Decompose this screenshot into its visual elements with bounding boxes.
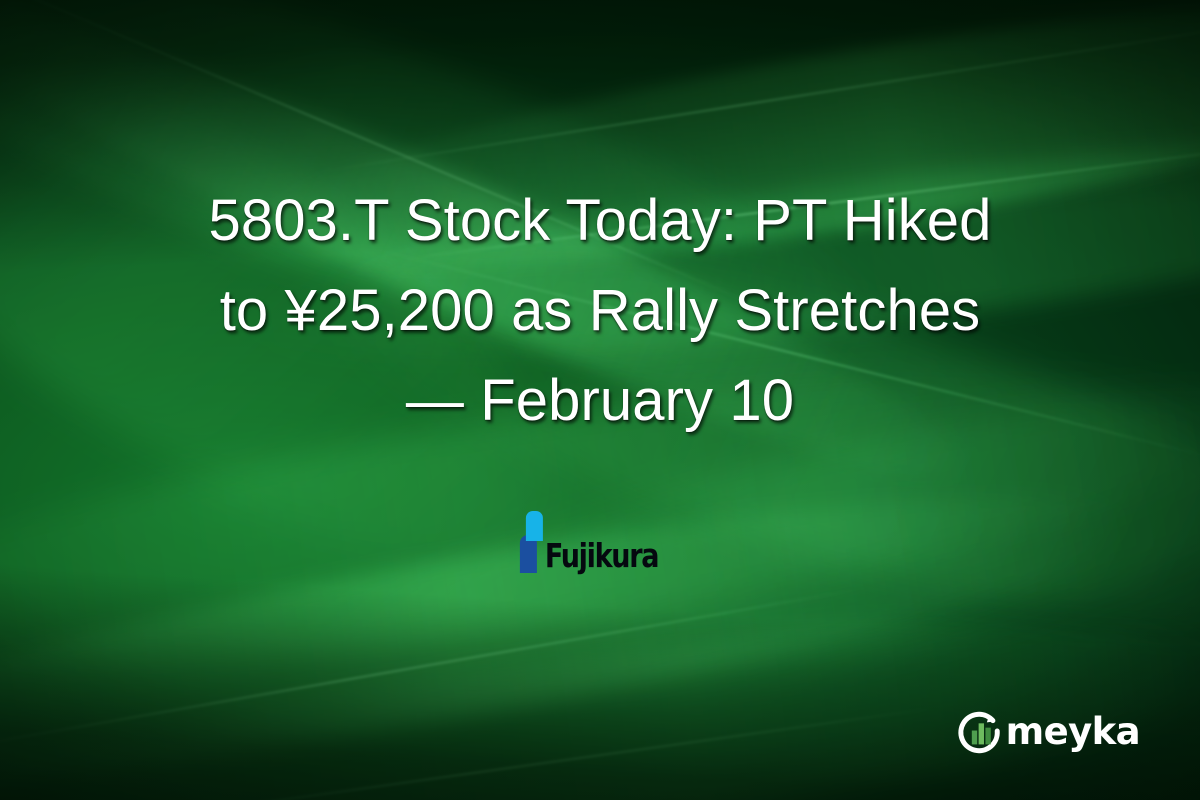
- fujikura-f-mark-icon: [517, 511, 543, 573]
- fujikura-wordmark: Fujikura: [545, 541, 658, 571]
- meyka-ring-bars-icon: [956, 708, 1002, 754]
- social-share-banner: 5803.T Stock Today: PT Hiked to ¥25,200 …: [0, 0, 1200, 800]
- company-logo-fujikura: Fujikura: [517, 505, 683, 573]
- fujikura-mark-upper-stem: [526, 511, 543, 541]
- brand-logo-meyka: meyka: [956, 708, 1140, 754]
- meyka-wordmark: meyka: [1006, 713, 1140, 750]
- banner-headline: 5803.T Stock Today: PT Hiked to ¥25,200 …: [0, 176, 1200, 446]
